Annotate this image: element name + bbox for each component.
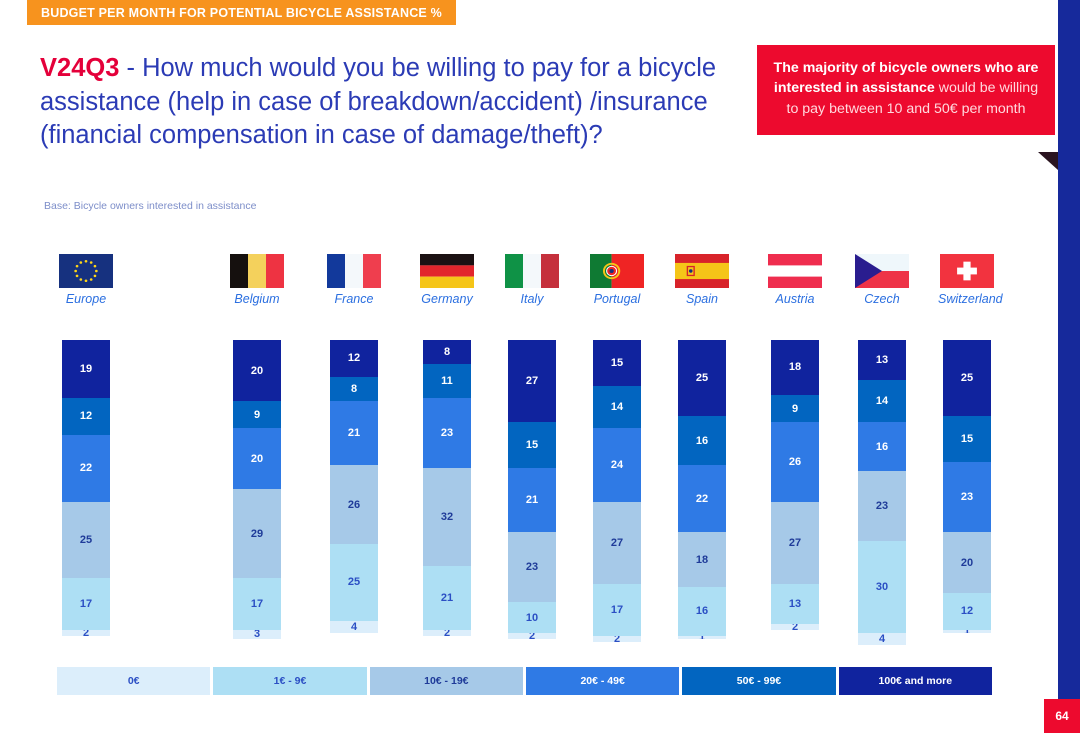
flag-italy-icon [503, 252, 561, 290]
bar-segment: 8 [330, 377, 378, 401]
bar-segment: 2 [593, 636, 641, 642]
country-column-germany: Germany8112332212 [418, 252, 476, 306]
bar-segment: 17 [62, 578, 110, 630]
bar-segment: 25 [943, 340, 991, 416]
bar-segment: 4 [330, 621, 378, 633]
country-column-europe: Europe19122225172 [57, 252, 115, 306]
bar-segment: 1 [943, 630, 991, 633]
stacked-bar-chart: Europe19122225172Belgium2092029173France… [0, 0, 1080, 733]
legend-item-4: 50€ - 99€ [682, 667, 835, 695]
country-column-italy: Italy27152123102 [503, 252, 561, 306]
bar-segment: 15 [593, 340, 641, 386]
country-label: Portugal [588, 292, 646, 306]
country-column-belgium: Belgium2092029173 [228, 252, 286, 306]
stacked-bar: 15142427172 [593, 340, 641, 645]
bar-segment: 2 [62, 630, 110, 636]
bar-segment: 1 [678, 636, 726, 639]
bar-segment: 4 [858, 633, 906, 645]
country-column-france: France1282126254 [325, 252, 383, 306]
bar-segment: 29 [233, 489, 281, 577]
flag-spain-icon [673, 252, 731, 290]
bar-segment: 10 [508, 602, 556, 633]
legend-item-0: 0€ [57, 667, 210, 695]
flag-europe-icon [57, 252, 115, 290]
flag-austria-icon [766, 252, 824, 290]
bar-segment: 13 [858, 340, 906, 380]
country-column-czech: Czech13141623304 [853, 252, 911, 306]
country-label: Austria [766, 292, 824, 306]
bar-segment: 8 [423, 340, 471, 364]
country-column-austria: Austria1892627132 [766, 252, 824, 306]
stacked-bar: 27152123102 [508, 340, 556, 645]
bar-segment: 27 [771, 502, 819, 584]
bar-segment: 12 [62, 398, 110, 435]
bar-segment: 26 [771, 422, 819, 501]
bar-segment: 23 [508, 532, 556, 602]
legend-item-2: 10€ - 19€ [370, 667, 523, 695]
country-label: France [325, 292, 383, 306]
flag-portugal-icon [588, 252, 646, 290]
stacked-bar: 19122225172 [62, 340, 110, 645]
country-label: Czech [853, 292, 911, 306]
bar-segment: 22 [678, 465, 726, 532]
bar-segment: 14 [593, 386, 641, 429]
bar-segment: 13 [771, 584, 819, 624]
stacked-bar: 8112332212 [423, 340, 471, 645]
bar-segment: 21 [423, 566, 471, 630]
bar-segment: 23 [943, 462, 991, 532]
legend-item-3: 20€ - 49€ [526, 667, 679, 695]
country-label: Switzerland [938, 292, 996, 306]
bar-segment: 20 [233, 428, 281, 489]
country-label: Belgium [228, 292, 286, 306]
country-column-portugal: Portugal15142427172 [588, 252, 646, 306]
country-column-spain: Spain25162218161 [673, 252, 731, 306]
bar-segment: 25 [62, 502, 110, 578]
bar-segment: 25 [330, 544, 378, 620]
bar-segment: 2 [423, 630, 471, 636]
bar-segment: 27 [508, 340, 556, 422]
legend-item-1: 1€ - 9€ [213, 667, 366, 695]
stacked-bar: 1282126254 [330, 340, 378, 645]
bar-segment: 11 [423, 364, 471, 398]
flag-germany-icon [418, 252, 476, 290]
bar-segment: 2 [771, 624, 819, 630]
flag-france-icon [325, 252, 383, 290]
bar-segment: 22 [62, 435, 110, 502]
bar-segment: 14 [858, 380, 906, 423]
stacked-bar: 25162218161 [678, 340, 726, 645]
country-label: Spain [673, 292, 731, 306]
stacked-bar: 25152320121 [943, 340, 991, 645]
bar-segment: 25 [678, 340, 726, 416]
flag-switzerland-icon [938, 252, 996, 290]
country-label: Europe [57, 292, 115, 306]
bar-segment: 19 [62, 340, 110, 398]
bar-segment: 23 [423, 398, 471, 468]
bar-segment: 2 [508, 633, 556, 639]
bar-segment: 16 [678, 587, 726, 636]
bar-segment: 9 [771, 395, 819, 422]
stacked-bar: 13141623304 [858, 340, 906, 645]
bar-segment: 9 [233, 401, 281, 428]
bar-segment: 21 [330, 401, 378, 465]
bar-segment: 17 [233, 578, 281, 630]
bar-segment: 18 [678, 532, 726, 587]
flag-belgium-icon [228, 252, 286, 290]
page-number-badge: 64 [1044, 699, 1080, 733]
bar-segment: 32 [423, 468, 471, 566]
country-column-switzerland: Switzerland25152320121 [938, 252, 996, 306]
stacked-bar: 2092029173 [233, 340, 281, 645]
bar-segment: 24 [593, 428, 641, 501]
bar-segment: 15 [508, 422, 556, 468]
stacked-bar: 1892627132 [771, 340, 819, 645]
bar-segment: 12 [943, 593, 991, 630]
flag-czech-icon [853, 252, 911, 290]
chart-legend: 0€1€ - 9€10€ - 19€20€ - 49€50€ - 99€100€… [57, 667, 992, 695]
bar-segment: 17 [593, 584, 641, 636]
bar-segment: 20 [943, 532, 991, 593]
bar-segment: 3 [233, 630, 281, 639]
bar-segment: 30 [858, 541, 906, 633]
bar-segment: 21 [508, 468, 556, 532]
country-label: Italy [503, 292, 561, 306]
bar-segment: 16 [858, 422, 906, 471]
bar-segment: 20 [233, 340, 281, 401]
bar-segment: 23 [858, 471, 906, 541]
bar-segment: 15 [943, 416, 991, 462]
bar-segment: 12 [330, 340, 378, 377]
country-label: Germany [418, 292, 476, 306]
legend-item-5: 100€ and more [839, 667, 992, 695]
bar-segment: 26 [330, 465, 378, 544]
bar-segment: 16 [678, 416, 726, 465]
bar-segment: 27 [593, 502, 641, 584]
bar-segment: 18 [771, 340, 819, 395]
